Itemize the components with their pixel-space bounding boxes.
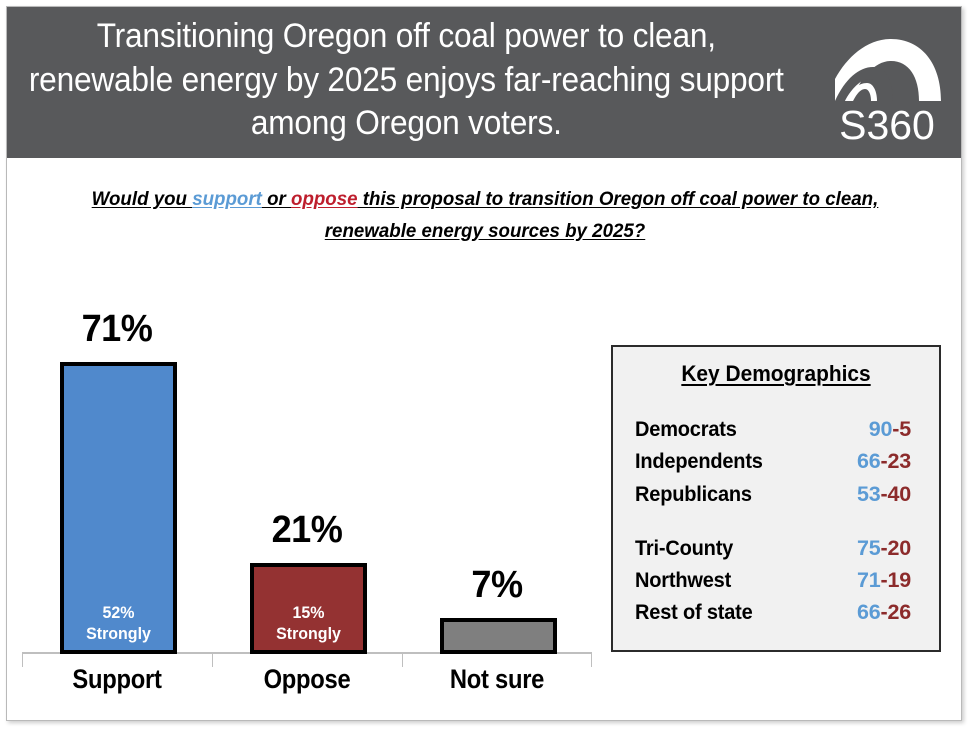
slide-canvas: Transitioning Oregon off coal power to c… — [0, 0, 970, 729]
axis-tick — [402, 654, 403, 667]
demographics-label: Independents — [635, 445, 763, 477]
bar-inner-line1: 15% — [257, 602, 359, 623]
demographics-support-value: 66 — [857, 600, 881, 624]
demographics-values: 90-5 — [869, 413, 917, 445]
bar-inner-line2: Strongly — [67, 623, 169, 644]
demographics-row: Republicans 53-40 — [635, 478, 917, 510]
demographics-label: Republicans — [635, 478, 752, 510]
bar-inner-line1: 52% — [67, 602, 169, 623]
demographics-values: 75-20 — [857, 532, 917, 564]
question-part-2: or — [262, 188, 291, 210]
demographics-group-party: Democrats 90-5 Independents 66-23 Republ… — [635, 413, 917, 510]
demographics-row: Independents 66-23 — [635, 445, 917, 477]
demographics-oppose-value: 20 — [887, 536, 911, 560]
bar-category-label: Not sure — [413, 664, 580, 695]
logo-text: S360 — [829, 105, 945, 146]
bar-inner-label: 52% Strongly — [67, 602, 169, 645]
question-part-1: Would you — [92, 188, 193, 210]
question-oppose-word: oppose — [291, 188, 358, 210]
bar-inner-line2: Strongly — [257, 623, 359, 644]
demographics-row: Rest of state 66-26 — [635, 596, 917, 628]
question-text: Would you support or oppose this proposa… — [79, 184, 891, 247]
demographics-values: 66-23 — [857, 445, 917, 477]
bar-value-label: 21% — [217, 509, 398, 552]
demographics-label: Rest of state — [635, 596, 753, 628]
demographics-group-divider — [635, 510, 917, 532]
header-banner: Transitioning Oregon off coal power to c… — [7, 7, 961, 158]
key-demographics-title: Key Demographics — [642, 361, 910, 387]
question-part-3: this proposal to transition Oregon off c… — [325, 188, 879, 242]
demographics-support-value: 66 — [857, 449, 881, 473]
demographics-support-value: 90 — [869, 417, 893, 441]
question-support-word: support — [192, 188, 262, 210]
axis-tick — [212, 654, 213, 667]
axis-tick — [591, 654, 592, 667]
demographics-support-value: 71 — [857, 568, 881, 592]
bar-oppose[interactable]: 15% Strongly — [250, 563, 367, 654]
axis-tick — [22, 654, 23, 667]
bar-group-support[interactable]: 71% 52% Strongly Support — [22, 280, 212, 654]
demographics-oppose-value: 40 — [887, 482, 911, 506]
demographics-row: Democrats 90-5 — [635, 413, 917, 445]
demographics-oppose-value: 23 — [887, 449, 911, 473]
bar-value-label: 71% — [27, 308, 208, 351]
s360-logo: S360 — [829, 29, 945, 147]
demographics-values: 71-19 — [857, 564, 917, 596]
page-title: Transitioning Oregon off coal power to c… — [25, 15, 788, 146]
bar-inner-label: 15% Strongly — [257, 602, 359, 645]
demographics-oppose-value: 19 — [887, 568, 911, 592]
bar-not-sure[interactable] — [440, 618, 557, 654]
demographics-support-value: 53 — [857, 482, 881, 506]
demographics-label: Democrats — [635, 413, 737, 445]
demographics-row: Tri-County 75-20 — [635, 532, 917, 564]
demographics-oppose-value: 26 — [887, 600, 911, 624]
demographics-oppose-value: 5 — [899, 417, 911, 441]
bar-support[interactable]: 52% Strongly — [60, 362, 177, 654]
bar-group-not-sure[interactable]: 7% Not sure — [402, 280, 592, 654]
demographics-values: 53-40 — [857, 478, 917, 510]
swoosh-icon — [829, 29, 945, 105]
bar-value-label: 7% — [407, 564, 588, 607]
demographics-label: Tri-County — [635, 532, 733, 564]
bar-category-label: Support — [33, 664, 200, 695]
demographics-group-region: Tri-County 75-20 Northwest 71-19 Rest of… — [635, 532, 917, 629]
bar-category-label: Oppose — [223, 664, 390, 695]
demographics-values: 66-26 — [857, 596, 917, 628]
demographics-row: Northwest 71-19 — [635, 564, 917, 596]
bar-group-oppose[interactable]: 21% 15% Strongly Oppose — [212, 280, 402, 654]
demographics-label: Northwest — [635, 564, 731, 596]
key-demographics-panel: Key Demographics Democrats 90-5 Independ… — [611, 345, 941, 652]
chart-plot-area: 71% 52% Strongly Support 21% 15% Strongl… — [22, 280, 592, 654]
demographics-support-value: 75 — [857, 536, 881, 560]
